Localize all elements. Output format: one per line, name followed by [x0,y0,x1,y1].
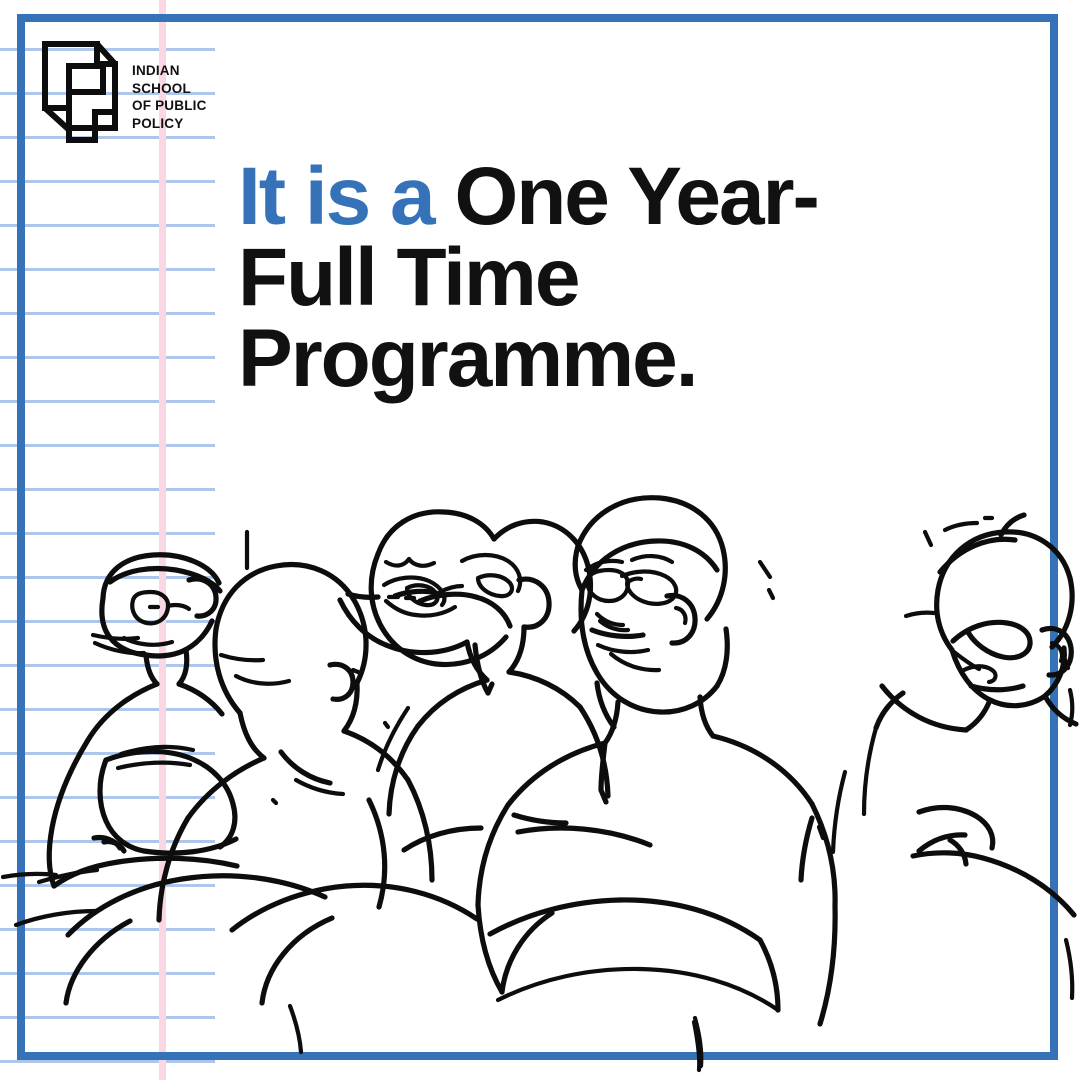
notebook-rule-line [0,840,215,843]
figure-bearded-man [340,512,608,907]
notebook-rule-line [0,356,215,359]
headline-accent-text: It is a [238,151,434,242]
figure-right-looking-down [876,515,1076,998]
illustration-stray-strokes [290,728,876,1066]
notebook-rule-line [0,796,215,799]
poster-canvas: INDIAN SCHOOL OF PUBLIC POLICY It is a O… [0,0,1080,1080]
notebook-rule-line [0,400,215,403]
notebook-ruled-lines [0,0,215,1080]
isp-wordmark: INDIAN SCHOOL OF PUBLIC POLICY [132,62,207,132]
notebook-rule-line [0,576,215,579]
headline-line3: Programme. [238,313,697,404]
notebook-rule-line [0,620,215,623]
logo-line-4: POLICY [132,115,207,133]
logo-line-2: SCHOOL [132,80,207,98]
notebook-margin-line [159,0,166,1080]
notebook-rule-line [0,532,215,535]
figure-left-back-head [159,532,477,1003]
logo-line-1: INDIAN [132,62,207,80]
notebook-rule-line [0,180,215,183]
isp-logo[interactable]: INDIAN SCHOOL OF PUBLIC POLICY [38,40,207,146]
notebook-rule-line [0,444,215,447]
notebook-rule-line [0,752,215,755]
notebook-rule-line [0,884,215,887]
notebook-rule-line [0,488,215,491]
notebook-rule-line [0,708,215,711]
figure-center-glasses [478,498,835,1070]
headline-line2: Full Time [238,232,578,323]
notebook-rule-line [0,268,215,271]
notebook-rule-line [0,1060,215,1063]
notebook-rule-line [0,664,215,667]
notebook-rule-line [0,312,215,315]
logo-line-3: OF PUBLIC [132,97,207,115]
notebook-rule-line [0,1016,215,1019]
notebook-rule-line [0,972,215,975]
headline: It is a One Year- Full Time Programme. [238,156,938,400]
notebook-rule-line [0,928,215,931]
notebook-rule-line [0,224,215,227]
headline-rest-line1: One Year- [434,151,818,242]
isp-monogram-icon [38,40,122,146]
